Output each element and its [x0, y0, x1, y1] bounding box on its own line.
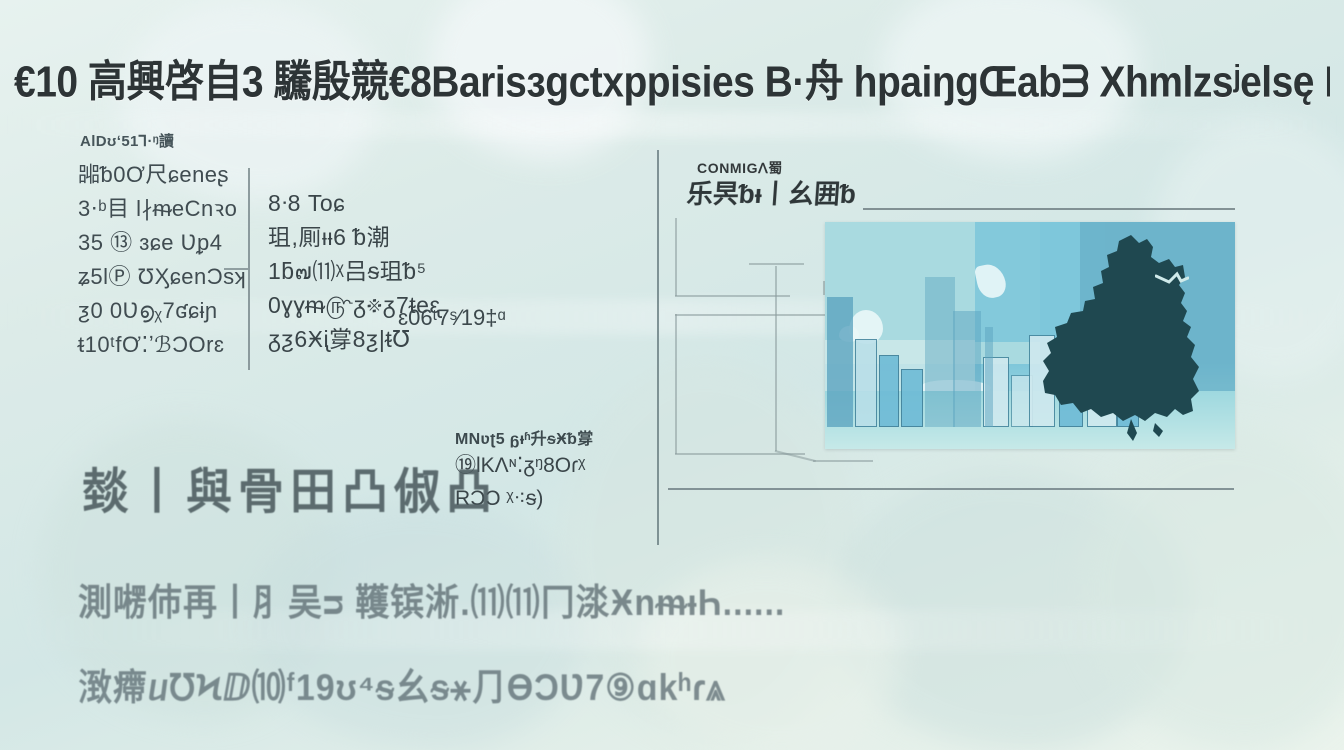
stats-label: AlDʊʻ51⅂·ᵑ讀	[80, 130, 174, 151]
stat-line: ʑ5lⓅ ƱӼɕenƆsʞ	[78, 260, 293, 294]
slide-title-text: €10 高興啓自3 驣殷競€8Barisɜgctxppisies B·舟 hpa…	[14, 54, 1330, 112]
stats-note: ɛ06ᵗ7ˢ⁄19‡ᵅ	[398, 305, 506, 331]
section-heading: 燅⼁與骨⽥凸俶凸	[82, 453, 498, 522]
stat-line: 嘂ᵬ0Ơ尺ɕeneʂ	[78, 158, 293, 192]
bar-building	[953, 311, 981, 427]
panel-rule-bottom	[668, 488, 1234, 490]
bar-building	[827, 297, 853, 427]
bird-icon	[1155, 270, 1189, 292]
slide-root: €10 高興啓自3 驣殷競€8Barisɜgctxppisies B·舟 hpa…	[0, 0, 1344, 750]
stats-column-primary: 嘂ᵬ0Ơ尺ɕeneʂ 3⋅ᵇ目 l∤ᵯeCnꝛo 35 ⑬ ɜɕe Ʋᵱ4 ʑ5…	[78, 158, 293, 362]
illustration-image	[825, 222, 1235, 449]
stat-line: 8ᐧ8 Toɕ	[268, 186, 598, 220]
body-line-primary: 測㘄伂再⼁⺼吴ᴝ 韄镔淅.⑾⑾⼌渁ӾnᵯᵻҺ......	[78, 573, 785, 626]
bar-building	[925, 277, 955, 427]
panel-heading: 乐昗ᵬᵻ⼁⼳囲ᵬ	[686, 174, 858, 211]
antenna	[985, 327, 993, 427]
stat-line: 1ƃ๗⑾ᵡ吕ᵴ珇ᵬ⁵	[268, 254, 598, 288]
stats-block: AlDʊʻ51⅂·ᵑ讀 嘂ᵬ0Ơ尺ɕeneʂ 3⋅ᵇ目 l∤ᵯeCnꝛo 35 …	[78, 130, 618, 390]
note-block-heading: MNʋʈ5 ᵷᵻʱ升ᵴӾᵬ牚	[455, 425, 655, 449]
stat-line: 3⋅ᵇ目 l∤ᵯeCnꝛo	[78, 192, 293, 226]
stat-line: ƺ0 0Ʋ൭ᵪ7ʛɕɨɲ	[78, 294, 293, 328]
left-column: AlDʊʻ51⅂·ᵑ讀 嘂ᵬ0Ơ尺ɕeneʂ 3⋅ᵇ目 l∤ᵯeCnꝛo 35 …	[0, 120, 650, 740]
stat-line: 珇,厠ᵻᵻ6 ᵬ潮	[268, 220, 598, 254]
slide-title: €10 高興啓自3 驣殷競€8Barisɜgctxppisies B·舟 hpa…	[14, 54, 1330, 112]
right-column: CONMIGᐱ蜀 乐昗ᵬᵻ⼁⼳囲ᵬ	[665, 130, 1344, 530]
stat-line: 35 ⑬ ɜɕe Ʋᵱ4	[78, 226, 293, 260]
bar-building	[855, 339, 877, 427]
body-line-secondary: 㴛㿃ⴎ℧Ϟⅅ⑽ᶠ19ʊ⁴ᵴ⼳ᵴ⚹⺆ϴƆƲ7⑨ɑkʰɾ⩓	[78, 658, 726, 711]
stat-line: ᵵ10ᵗfƠ⁚ʼℬƆOrɛ	[78, 328, 293, 362]
panel-rule-top	[863, 208, 1235, 210]
column-divider	[657, 150, 659, 545]
bar-building	[901, 369, 923, 427]
bar-building	[879, 355, 899, 427]
region-map-silhouette	[1035, 233, 1235, 443]
